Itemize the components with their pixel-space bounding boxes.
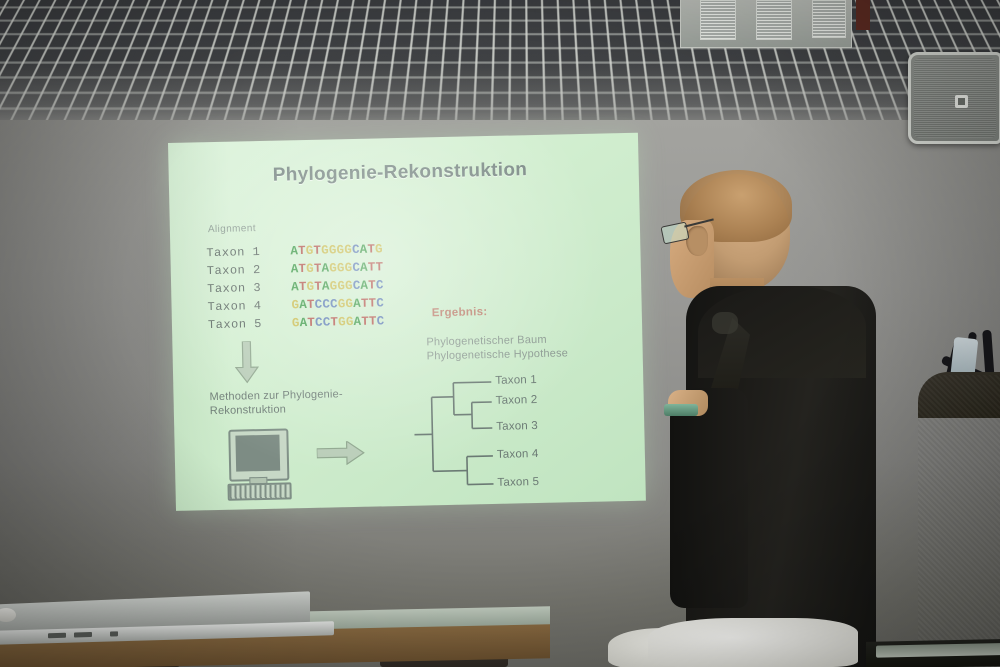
result-label: Ergebnis: [432,306,488,319]
lecture-hall-photo: Phylogenie-Rekonstruktion Alignment Taxo… [0,0,1000,667]
glasses-temple [684,218,714,227]
hanging-jacket [918,375,1000,667]
ceiling-vent [700,0,736,40]
collar [712,312,738,334]
monitor-screen [235,435,280,472]
taxon-name: Taxon 4 [207,298,291,314]
ceiling [0,0,1000,138]
ceiling-vent [756,0,792,40]
taxon-sequence: GATCCTGGATTC [292,314,385,330]
alignment-label: Alignment [208,223,256,235]
taxon-name: Taxon 5 [208,316,292,332]
wall-speaker [908,52,1000,144]
method-label-line2: Rekonstruktion [210,401,343,418]
nucleotide-C: C [376,296,384,310]
taxon-sequence: GATCCCGGATTC [291,296,384,312]
taxon-sequence: ATGTGGGGCATG [290,242,383,258]
taxon-name: Taxon 1 [206,244,290,260]
ceiling-marker [856,0,870,30]
arrow-right-icon [317,441,366,466]
phylogenetic-tree: Taxon 1 Taxon 2 Taxon 3 Taxon 4 Taxon 5 [413,371,626,494]
result-sub-line2: Phylogenetische Hypothese [427,346,569,363]
laptop-port [110,631,118,636]
result-sublabel: Phylogenetischer Baum Phylogenetische Hy… [426,332,568,363]
laptop-port [48,633,66,639]
taxon-name: Taxon 2 [207,262,291,278]
nucleotide-C: C [376,278,384,292]
presenter [640,168,900,667]
slide-title: Phylogenie-Rekonstruktion [272,159,527,187]
ceiling-vent [812,0,846,38]
tree-tip-label: Taxon 2 [496,394,538,407]
projection-screen: Phylogenie-Rekonstruktion Alignment Taxo… [168,133,652,515]
tree-tip-label: Taxon 1 [495,374,537,387]
alignment-block: Taxon 1ATGTGGGGCATGTaxon 2ATGTAGGGCATTTa… [206,240,384,334]
notebook [866,638,1000,667]
white-cloth [648,618,858,667]
speaker-logo-icon [955,95,968,108]
taxon-sequence: ATGTAGGGCATT [291,260,384,276]
desktop-computer-icon [226,428,288,499]
arm [670,388,748,608]
glasses-icon [662,220,714,240]
nucleotide-C: C [377,314,385,328]
monitor-icon [228,428,289,481]
nucleotide-T: T [375,260,383,274]
tree-tip-label: Taxon 5 [497,476,539,489]
taxon-sequence: ATGTAGGGCATC [291,278,384,294]
tree-tip-label: Taxon 3 [496,420,538,433]
tree-tip-label: Taxon 4 [497,448,539,461]
keyboard-icon [227,482,291,500]
laptop-port [74,632,92,638]
alignment-row: Taxon 5GATCCTGGATTC [208,312,385,334]
notebook-cover [876,643,1000,658]
method-label: Methoden zur Phylogenie- Rekonstruktion [209,387,343,418]
laser-pointer [664,404,698,416]
taxon-name: Taxon 3 [207,280,291,296]
method-label-line1: Methoden zur Phylogenie- [209,387,342,404]
slide-surface: Phylogenie-Rekonstruktion Alignment Taxo… [168,133,646,511]
arrow-down-icon [234,341,259,384]
nucleotide-G: G [375,242,383,256]
